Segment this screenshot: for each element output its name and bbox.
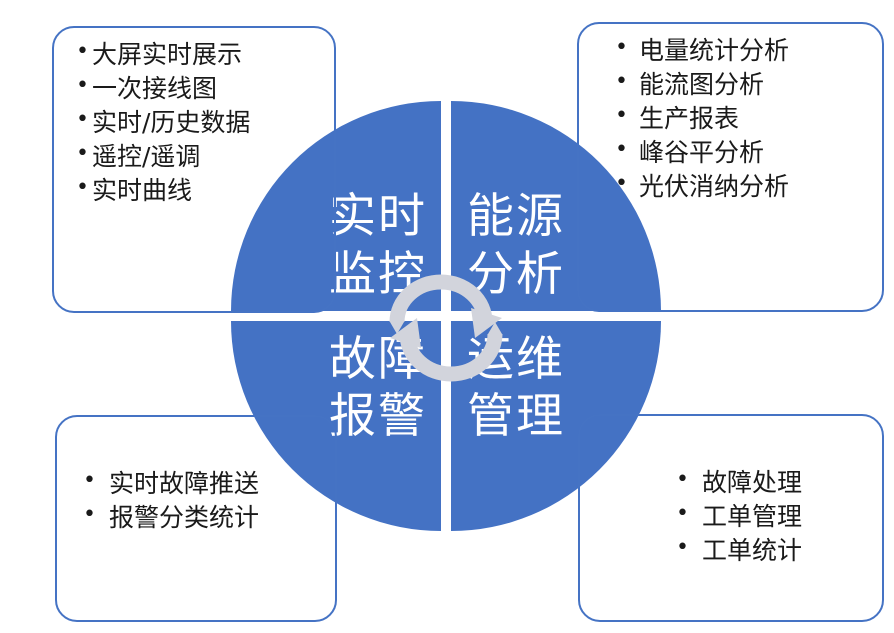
quadrant-label-energy-analysis: 能源 分析 <box>467 188 565 303</box>
list-item: 实时曲线 <box>76 174 334 208</box>
callout-list-fault-alarm: 实时故障推送 报警分类统计 <box>57 417 335 535</box>
list-item: 实时/历史数据 <box>76 106 334 140</box>
callout-ops-management[interactable]: 故障处理 工单管理 工单统计 <box>578 414 884 622</box>
quadrant-label-ops-management: 运维 管理 <box>467 331 565 446</box>
diagram-canvas: 实时 监控 能源 分析 故障 报警 运维 管理 <box>0 0 894 633</box>
list-item: 能流图分析 <box>615 68 882 102</box>
list-item: 工单统计 <box>676 534 882 568</box>
list-item: 电量统计分析 <box>615 34 882 68</box>
list-item: 一次接线图 <box>76 72 334 106</box>
list-item: 生产报表 <box>615 102 882 136</box>
callout-list-energy-analysis: 电量统计分析 能流图分析 生产报表 峰谷平分析 光伏消纳分析 <box>579 24 882 204</box>
callout-list-realtime-monitoring: 大屏实时展示 一次接线图 实时/历史数据 遥控/遥调 实时曲线 <box>54 28 334 208</box>
list-item: 实时故障推送 <box>81 467 285 501</box>
list-item: 故障处理 <box>676 466 882 500</box>
callout-energy-analysis[interactable]: 电量统计分析 能流图分析 生产报表 峰谷平分析 光伏消纳分析 <box>577 22 884 312</box>
list-item: 报警分类统计 <box>81 501 285 535</box>
quadrant-label-fault-alarm: 故障 报警 <box>329 331 427 446</box>
list-item: 遥控/遥调 <box>76 140 334 174</box>
list-item: 光伏消纳分析 <box>615 170 882 204</box>
callout-realtime-monitoring[interactable]: 大屏实时展示 一次接线图 实时/历史数据 遥控/遥调 实时曲线 <box>52 26 336 313</box>
list-item: 大屏实时展示 <box>76 38 334 72</box>
list-item: 峰谷平分析 <box>615 136 882 170</box>
callout-fault-alarm[interactable]: 实时故障推送 报警分类统计 <box>55 415 337 622</box>
callout-list-ops-management: 故障处理 工单管理 工单统计 <box>580 416 882 568</box>
list-item: 工单管理 <box>676 500 882 534</box>
quadrant-label-realtime-monitoring: 实时 监控 <box>329 188 427 303</box>
